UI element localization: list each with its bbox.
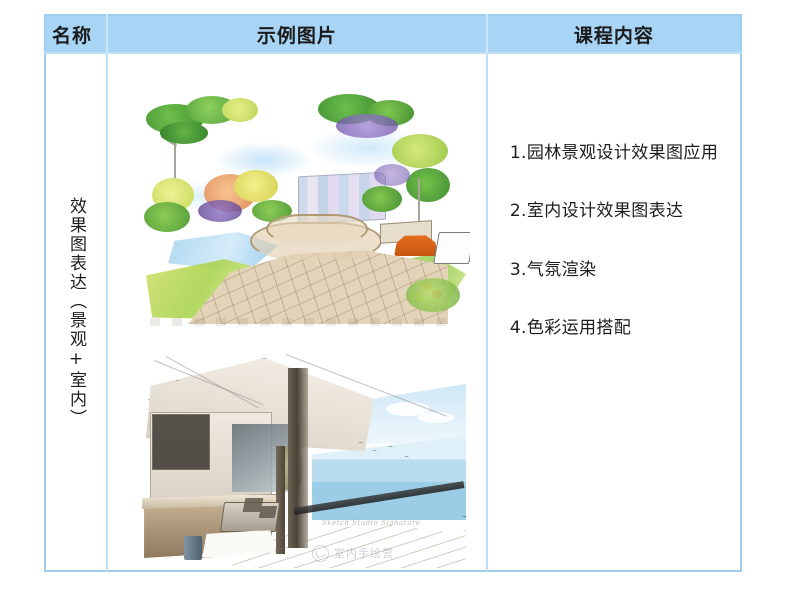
dark-cabinet — [152, 414, 210, 470]
course-content-item-1: 1.园林景观设计效果图应用 — [510, 140, 730, 166]
course-content-list: 1.园林景观设计效果图应用 2.室内设计效果图表达 3.气氛渲染 4.色彩运用搭… — [488, 54, 740, 351]
course-table: 名称 示例图片 课程内容 效果图表达（景观+室内） — [44, 14, 742, 572]
signature-script: Sketch Studio Signature — [322, 518, 442, 529]
course-content-item-2: 2.室内设计效果图表达 — [510, 198, 730, 224]
tree-canopy-right-3 — [392, 134, 448, 168]
landscape-artwork — [130, 82, 470, 327]
cell-course-name: 效果图表达（景观+室内） — [45, 53, 107, 571]
image-stack: Sketch Studio Signature 室内手绘营 — [108, 54, 486, 570]
cell-sample-images: Sketch Studio Signature 室内手绘营 — [107, 53, 487, 571]
watermark: 室内手绘营 — [312, 540, 452, 566]
cell-course-content: 1.园林景观设计效果图应用 2.室内设计效果图表达 3.气氛渲染 4.色彩运用搭… — [487, 53, 741, 571]
watermark-label: 室内手绘营 — [334, 545, 394, 561]
interior-artwork: Sketch Studio Signature 室内手绘营 — [136, 350, 466, 568]
header-cell-name: 名称 — [45, 15, 107, 53]
shrub-green-1 — [144, 202, 190, 232]
tree-canopy-3 — [222, 98, 258, 122]
interior-sketch-image: Sketch Studio Signature 室内手绘营 — [136, 350, 466, 568]
course-content-item-4: 4.色彩运用搭配 — [510, 315, 730, 341]
table-header-row: 名称 示例图片 课程内容 — [45, 15, 741, 53]
tree-canopy-right-4 — [406, 168, 450, 202]
header-cell-sample-image: 示例图片 — [107, 15, 487, 53]
table-row: 效果图表达（景观+室内） — [45, 53, 741, 571]
purple-blossom-canopy — [336, 114, 398, 138]
slide-page: 名称 示例图片 课程内容 效果图表达（景观+室内） — [0, 0, 795, 592]
vertical-name-wrapper: 效果图表达（景观+室内） — [46, 54, 106, 570]
terrace-step-inner — [266, 214, 368, 244]
shrub-green-3 — [362, 186, 402, 212]
landscape-sketch-image — [130, 82, 470, 327]
tree-canopy-4 — [160, 122, 208, 144]
white-bench — [433, 232, 470, 264]
lounge-chair-2 — [259, 506, 278, 518]
course-content-item-3: 3.气氛渲染 — [510, 257, 730, 283]
shrub-yellow-2 — [234, 170, 278, 202]
course-name-text: 效果图表达（景观+室内） — [66, 197, 86, 428]
side-drum-table — [184, 536, 202, 560]
watermark-logo-icon — [312, 545, 329, 562]
shrub-purple — [198, 200, 242, 222]
foreground-shrub-right — [406, 278, 460, 312]
header-cell-course-content: 课程内容 — [487, 15, 741, 53]
purple-blossom-canopy-2 — [374, 164, 410, 186]
table-body: 效果图表达（景观+室内） — [45, 53, 741, 571]
table-header: 名称 示例图片 课程内容 — [45, 15, 741, 53]
sketch-baseline — [150, 318, 446, 326]
